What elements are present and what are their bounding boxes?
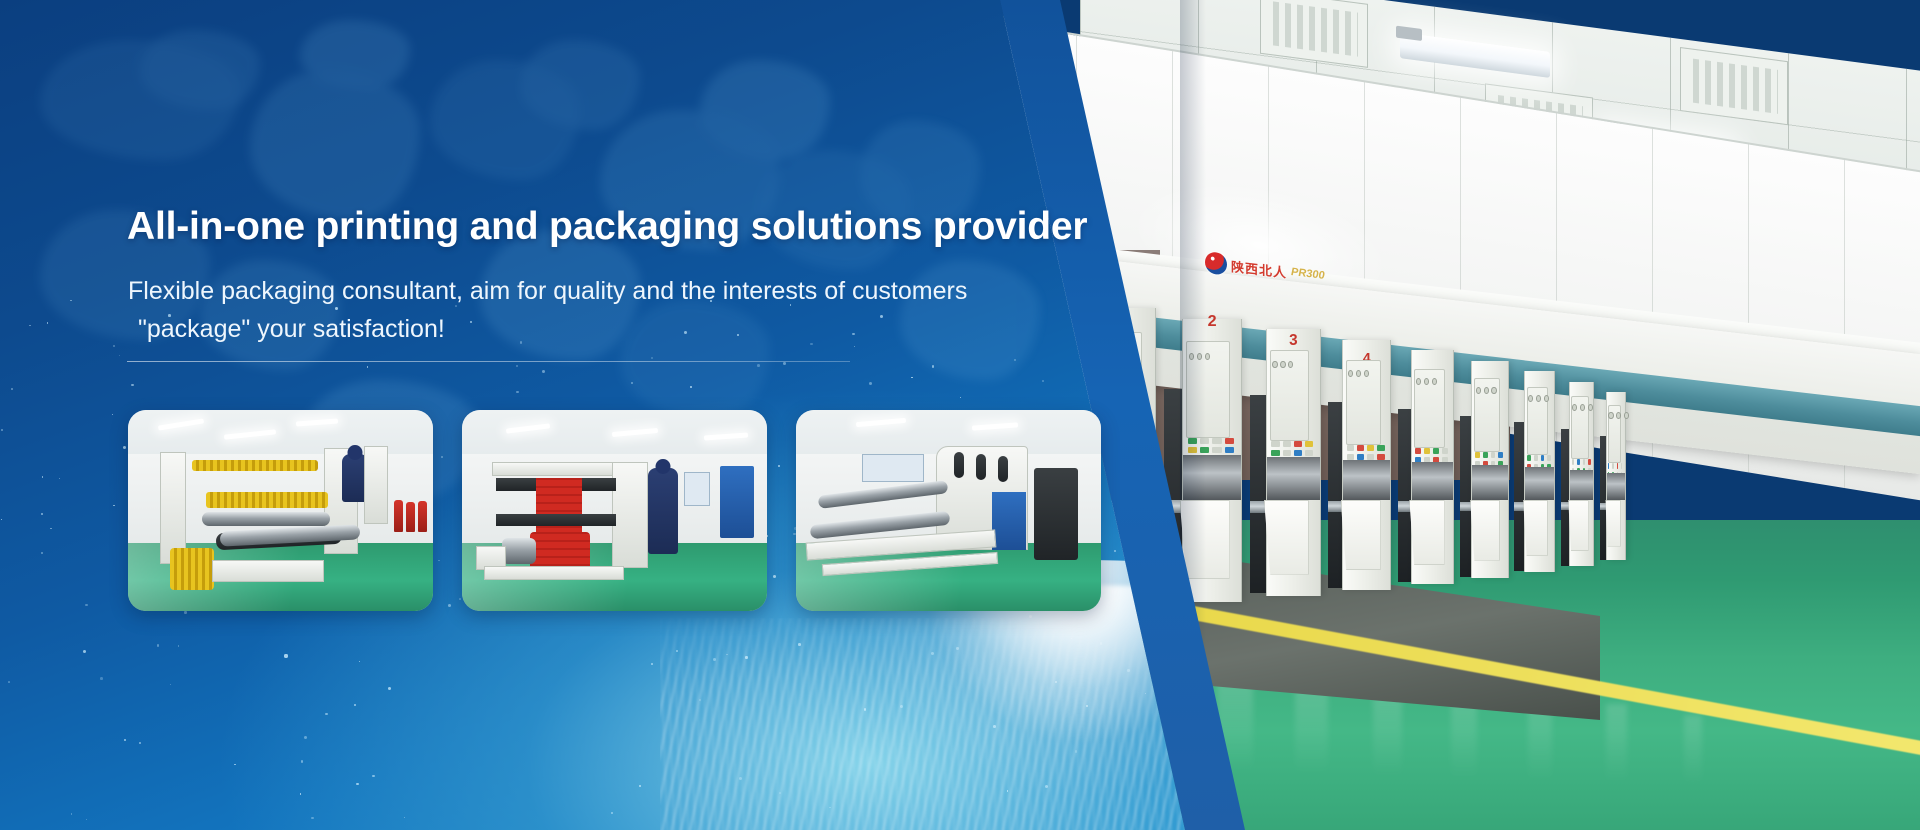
- print-station: 5: [1411, 350, 1454, 584]
- station-button: [1123, 434, 1134, 440]
- fire-extinguisher-icon: [394, 500, 403, 532]
- station-button: [1188, 438, 1197, 444]
- station-button: [1621, 463, 1622, 469]
- station-button: [1294, 441, 1302, 447]
- station-number: 1: [1118, 292, 1127, 312]
- brand-logo-icon: [1205, 251, 1227, 276]
- door-icon: [720, 466, 754, 538]
- station-roller: [1472, 465, 1507, 500]
- indicator-lamp-icon: [1348, 370, 1353, 377]
- indicator-lamp-icon: [1113, 344, 1118, 351]
- ink-pan-cover: [1470, 500, 1500, 561]
- station-roller: [1183, 455, 1241, 500]
- station-button: [1188, 447, 1197, 453]
- thumb-machine-base: [212, 560, 324, 582]
- station-button: [1225, 438, 1234, 444]
- yellow-guard-icon: [192, 460, 318, 471]
- thumbnail-gallery: [128, 410, 1101, 611]
- yellow-guard-icon: [170, 548, 214, 590]
- indicator-lamp-icon: [1588, 404, 1593, 411]
- station-indicator-lamps: [1416, 378, 1437, 385]
- floor-reflection: [1684, 715, 1702, 785]
- print-station: 7: [1524, 371, 1556, 572]
- station-button: [1283, 441, 1291, 447]
- indicator-lamp-icon: [1356, 370, 1361, 377]
- station-indicator-lamps: [1272, 361, 1293, 368]
- indicator-lamp-icon: [1197, 353, 1202, 360]
- thumb-motor: [998, 456, 1008, 482]
- indicator-lamp-icon: [1416, 378, 1421, 385]
- station-button: [1212, 438, 1221, 444]
- fire-extinguisher-icon: [406, 502, 415, 532]
- station-button: [1294, 450, 1302, 456]
- info-board: [684, 472, 710, 506]
- thumb-roller: [202, 512, 330, 526]
- print-station: 3: [1266, 329, 1321, 596]
- station-button: [1110, 443, 1121, 449]
- brand-model: PR300: [1291, 266, 1325, 282]
- station-roller: [1570, 470, 1594, 500]
- station-button: [1475, 452, 1480, 458]
- worker-head: [656, 459, 671, 474]
- worker-head: [348, 445, 363, 460]
- station-button: [1367, 445, 1374, 451]
- worker-figure: [648, 468, 678, 554]
- indicator-lamp-icon: [1536, 395, 1541, 402]
- station-button: [1225, 447, 1234, 453]
- station-number: 2: [1208, 312, 1217, 331]
- station-button: [1377, 445, 1384, 451]
- star-speck: [1014, 359, 1015, 360]
- thumb-control-cabinet: [364, 446, 388, 524]
- indicator-lamp-icon: [1580, 404, 1585, 411]
- thumb-machine-frame: [492, 462, 624, 476]
- station-button: [1200, 447, 1209, 453]
- thumb-machine-base: [484, 566, 624, 580]
- station-button: [1433, 448, 1439, 454]
- station-button: [1415, 448, 1421, 454]
- indicator-lamp-icon: [1616, 412, 1621, 419]
- ink-pan-cover: [1605, 500, 1620, 547]
- indicator-lamp-icon: [1189, 353, 1194, 360]
- station-button: [1123, 443, 1134, 449]
- indicator-lamp-icon: [1624, 412, 1629, 419]
- thumb-motor: [976, 454, 986, 480]
- printing-stations: 123456789: [1090, 300, 1920, 630]
- station-indicator-lamps: [1572, 404, 1593, 411]
- indicator-lamp-icon: [1476, 387, 1481, 394]
- print-station: 8: [1569, 382, 1595, 567]
- indicator-lamp-icon: [1424, 378, 1429, 385]
- indicator-lamp-icon: [1491, 387, 1496, 394]
- thumbnail-printing-inspection-red-film[interactable]: [462, 410, 767, 611]
- station-roller: [1525, 467, 1555, 499]
- station-button: [1534, 455, 1538, 461]
- star-speck: [1042, 380, 1044, 382]
- indicator-lamp-icon: [1608, 412, 1613, 419]
- info-board: [862, 454, 924, 482]
- station-indicator-lamps: [1097, 344, 1118, 351]
- station-button: [1357, 445, 1364, 451]
- thumb-roller-dark: [496, 514, 616, 526]
- indicator-lamp-icon: [1544, 395, 1549, 402]
- indicator-lamp-icon: [1097, 344, 1102, 351]
- fire-extinguisher-icon: [418, 501, 427, 532]
- station-button: [1583, 459, 1586, 465]
- station-button: [1137, 443, 1148, 449]
- banner-subtitle: Flexible packaging consultant, aim for q…: [128, 272, 1048, 348]
- station-button: [1271, 441, 1279, 447]
- station-button: [1424, 448, 1430, 454]
- thumb-roller: [502, 538, 536, 564]
- station-button: [1547, 455, 1551, 461]
- indicator-lamp-icon: [1484, 387, 1489, 394]
- print-station: 4: [1342, 340, 1391, 591]
- indicator-lamp-icon: [1432, 378, 1437, 385]
- thumb-motor: [954, 452, 964, 478]
- station-roller: [1343, 460, 1390, 500]
- station-button: [1612, 463, 1613, 469]
- print-station: 6: [1471, 361, 1508, 579]
- thumbnail-slitting-machine-operator[interactable]: [128, 410, 433, 611]
- hero-banner: 陕西北人 PR300 123456789 All-in-one printing…: [0, 0, 1920, 830]
- thumb-cabinet-dark: [1034, 468, 1078, 560]
- ink-pan-cover: [1409, 500, 1444, 566]
- divider: [127, 361, 850, 362]
- indicator-lamp-icon: [1572, 404, 1577, 411]
- station-button: [1572, 459, 1575, 465]
- indicator-lamp-icon: [1280, 361, 1285, 368]
- station-button: [1283, 450, 1291, 456]
- thumb-blue-panel: [992, 492, 1026, 550]
- station-button: [1200, 438, 1209, 444]
- indicator-lamp-icon: [1528, 395, 1533, 402]
- station-button: [1305, 441, 1313, 447]
- floor-reflection: [1606, 704, 1627, 783]
- station-button: [1442, 448, 1448, 454]
- station-indicator-lamps: [1528, 395, 1549, 402]
- station-indicator-lamps: [1476, 387, 1497, 394]
- banner-content: All-in-one printing and packaging soluti…: [0, 0, 1000, 830]
- station-button: [1305, 450, 1313, 456]
- ink-pan-cover: [1568, 500, 1588, 552]
- page-title: All-in-one printing and packaging soluti…: [127, 205, 1087, 249]
- ink-pan-cover: [1264, 500, 1309, 575]
- indicator-lamp-icon: [1205, 353, 1210, 360]
- station-button: [1483, 452, 1488, 458]
- station-indicator-lamps: [1608, 412, 1629, 419]
- station-button: [1137, 434, 1148, 440]
- station-indicator-lamps: [1189, 353, 1210, 360]
- station-button: [1498, 452, 1503, 458]
- station-roller: [1607, 473, 1625, 500]
- print-station: 9: [1606, 392, 1626, 560]
- ink-pan-cover: [1180, 500, 1230, 579]
- indicator-lamp-icon: [1272, 361, 1277, 368]
- indicator-lamp-icon: [1105, 344, 1110, 351]
- thumbnail-slitter-rewinder[interactable]: [796, 410, 1101, 611]
- star-speck: [1114, 550, 1117, 553]
- station-button: [1491, 452, 1496, 458]
- subtitle-line-1: Flexible packaging consultant, aim for q…: [128, 277, 967, 305]
- print-station: 2: [1182, 319, 1242, 603]
- ink-pan-cover: [1341, 500, 1381, 570]
- station-indicator-lamps: [1348, 370, 1369, 377]
- subtitle-line-2: "package" your satisfaction!: [128, 310, 1048, 348]
- station-button: [1212, 447, 1221, 453]
- station-button: [1347, 445, 1354, 451]
- station-button: [1617, 463, 1618, 469]
- ink-pan-cover: [1523, 500, 1548, 556]
- station-button: [1271, 450, 1279, 456]
- station-roller: [1412, 462, 1453, 499]
- thumb-machine-frame: [612, 462, 648, 568]
- indicator-lamp-icon: [1288, 361, 1293, 368]
- yellow-guard-icon: [206, 492, 328, 508]
- station-button: [1588, 459, 1591, 465]
- station-number: 3: [1289, 332, 1297, 349]
- station-button: [1541, 455, 1545, 461]
- station-button: [1608, 463, 1609, 469]
- station-roller: [1267, 457, 1320, 500]
- station-button: [1527, 455, 1531, 461]
- indicator-lamp-icon: [1364, 370, 1369, 377]
- station-button: [1110, 434, 1121, 440]
- station-button: [1577, 459, 1580, 465]
